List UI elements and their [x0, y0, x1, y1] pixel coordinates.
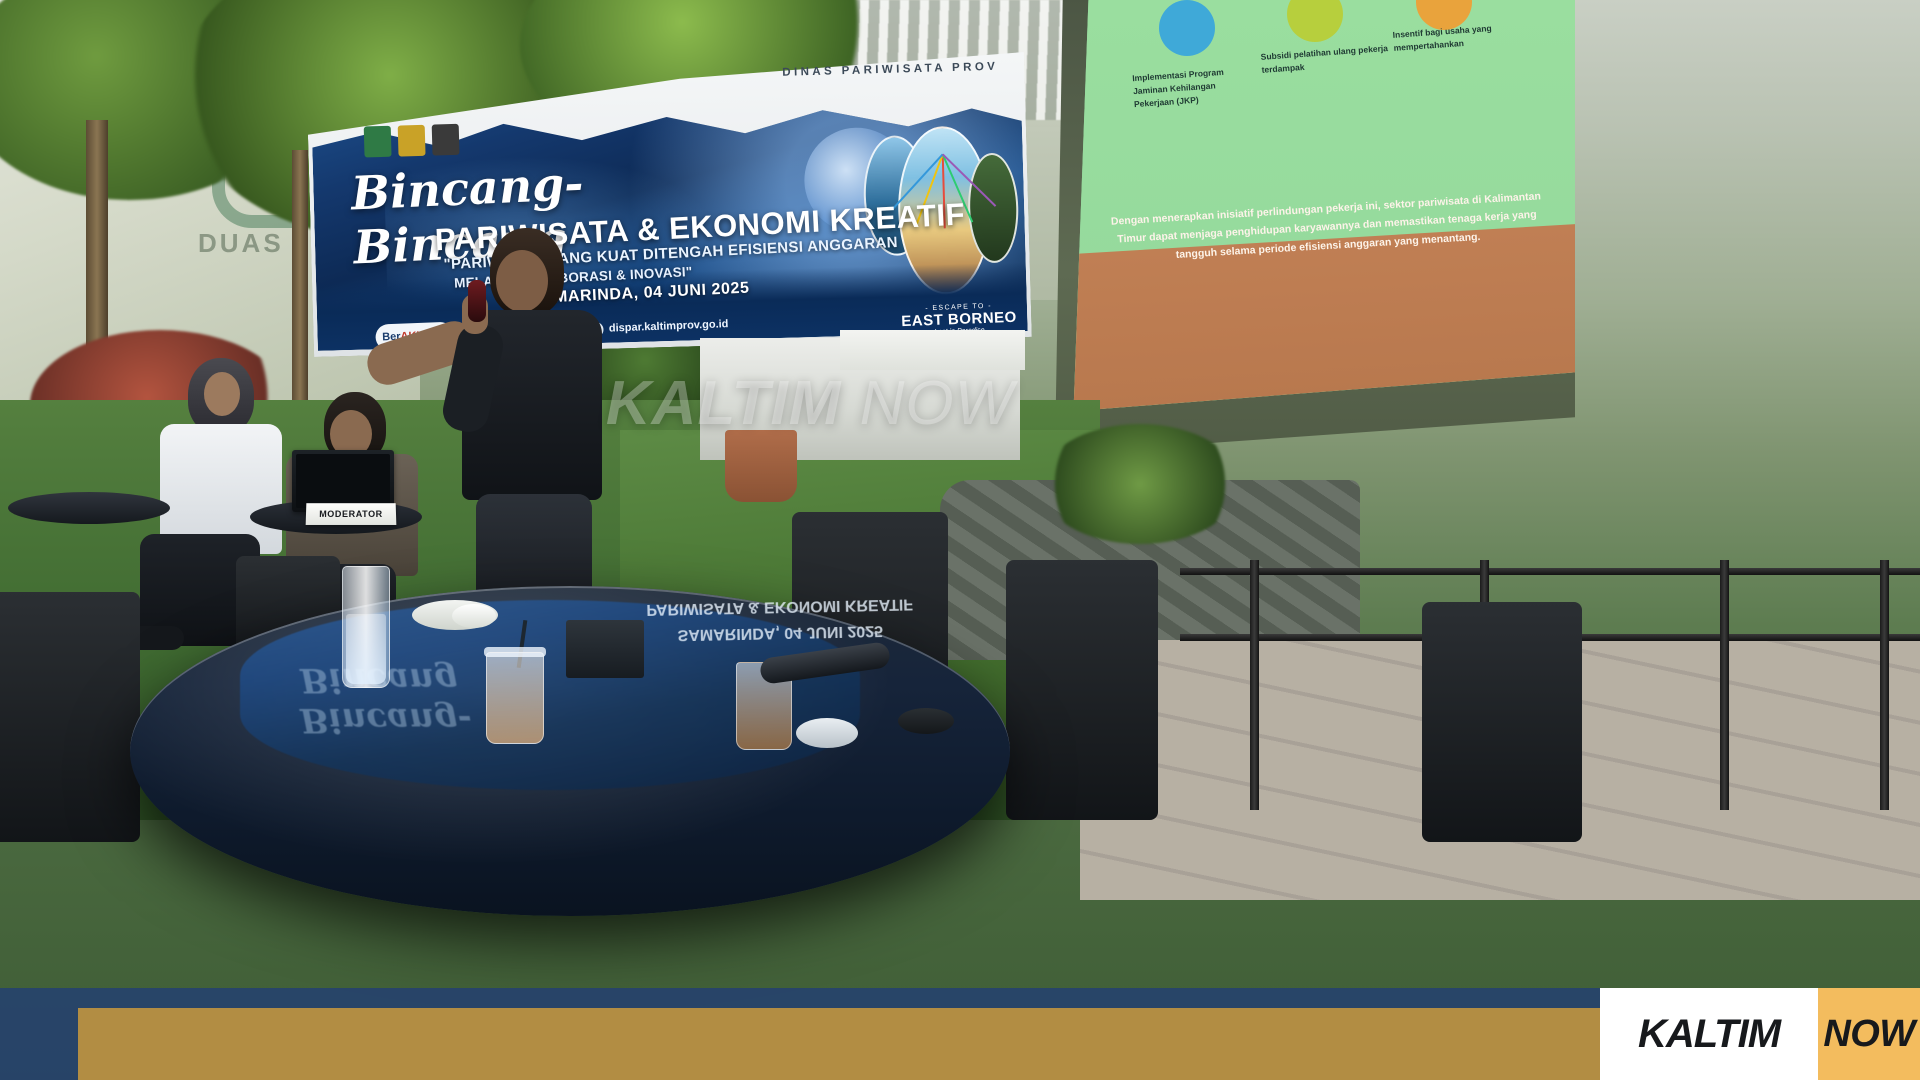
logo-kaltim-text: KALTIM — [1638, 1012, 1780, 1057]
snack-bowl — [452, 604, 496, 628]
logo-now-block: NOW — [1818, 988, 1920, 1080]
projection-screen: Implementasi Program Jaminan Kehilangan … — [1055, 0, 1575, 454]
logo-ekonomi-kreatif-icon — [432, 124, 460, 156]
dark-ashtray — [898, 708, 954, 734]
watermark-now: NOW — [860, 369, 1015, 438]
water-pitcher — [342, 566, 390, 688]
lower-bar-gold — [78, 1008, 1603, 1080]
shield-hand-icon — [1159, 0, 1215, 56]
side-table-left — [8, 492, 170, 524]
speaker-face — [496, 250, 548, 312]
concrete-ledge-upper — [840, 330, 1025, 370]
event-banner: DINAS PARIWISATA PROV Bincang-Bincang PA… — [306, 52, 1032, 357]
center-watermark: KALTIM NOW — [600, 368, 1020, 439]
lower-branding-bar: KALTIM NOW — [0, 988, 1920, 1080]
cup-lid — [484, 647, 546, 657]
logo-samarinda-icon — [398, 125, 426, 157]
panelist-woman-face — [204, 372, 240, 416]
social-website: ⊕ dispar.kaltimprov.go.id — [589, 317, 729, 337]
terracotta-planter — [725, 430, 797, 502]
tissue-box — [566, 620, 644, 678]
chair-far-right — [1422, 602, 1582, 842]
shrub-right — [1040, 424, 1240, 544]
chair-right-2 — [1006, 560, 1158, 820]
iced-coffee-cup — [486, 652, 544, 744]
kaltim-now-logo: KALTIM NOW — [1600, 988, 1920, 1080]
presentation-slide: Implementasi Program Jaminan Kehilangan … — [1071, 0, 1575, 424]
glass-ashtray — [796, 718, 858, 748]
watermark-kaltim: KALTIM — [606, 369, 842, 438]
photo-scene: DUAS DINAS PARIWISATA PROV — [0, 0, 1920, 1080]
microphone — [468, 280, 486, 322]
chair-left-fg — [0, 592, 140, 842]
logo-kaltim-block: KALTIM — [1600, 988, 1818, 1080]
logo-now-text: NOW — [1823, 1013, 1914, 1056]
moderator-name-plate: MODERATOR — [306, 503, 397, 525]
banner-logo-row — [364, 124, 460, 158]
duas-wall-text: DUAS — [198, 228, 284, 259]
logo-kaltim-provinsi-icon — [364, 126, 392, 158]
social-website-label: dispar.kaltimprov.go.id — [609, 318, 729, 335]
